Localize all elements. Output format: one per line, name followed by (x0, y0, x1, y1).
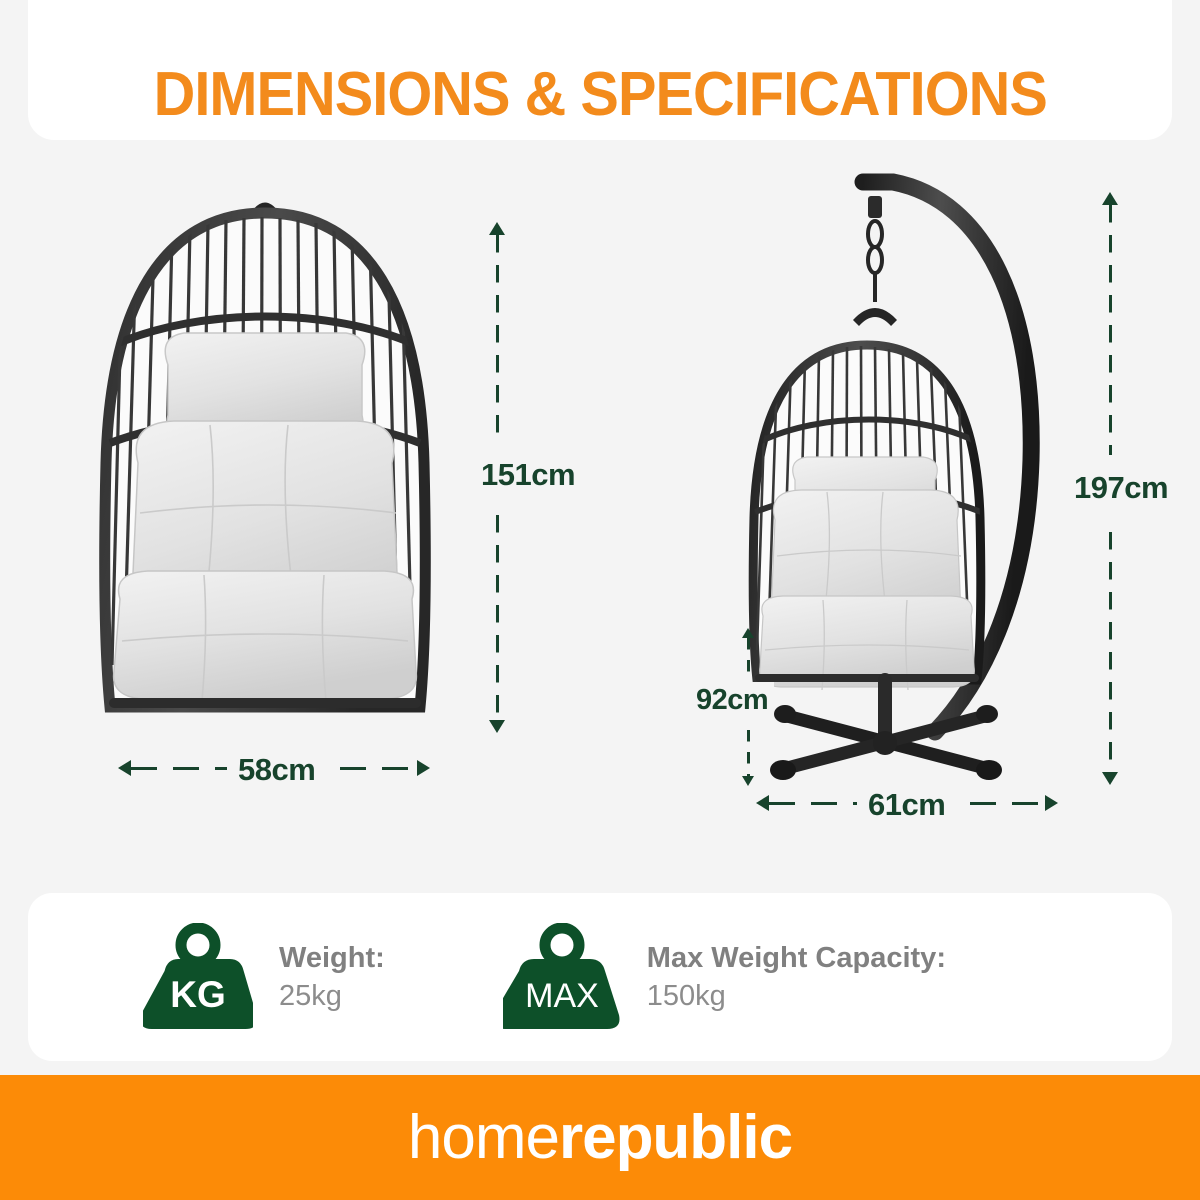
spec-text-weight: Weight: 25kg (279, 939, 385, 1016)
chair-hanger-hook (853, 308, 897, 326)
spec-item-weight: KG Weight: 25kg (143, 923, 385, 1031)
spec-label-max-capacity: Max Weight Capacity: (647, 939, 946, 977)
seat-cushion (114, 571, 417, 701)
max-icon-text: MAX (525, 977, 599, 1015)
weight-icon-text: KG (170, 974, 226, 1015)
egg-chair-front-svg (80, 195, 450, 755)
spec-text-max-capacity: Max Weight Capacity: 150kg (647, 939, 946, 1016)
dimension-label-151cm: 151cm (475, 455, 581, 495)
product-stage: 151cm 58cm (0, 150, 1200, 890)
dimension-label-197cm: 197cm (1068, 468, 1174, 508)
spec-value-weight: 25kg (279, 977, 385, 1015)
dimension-label-92cm: 92cm (690, 682, 774, 719)
page-title: DIMENSIONS & SPECIFICATIONS (153, 59, 1046, 130)
infographic-page: DIMENSIONS & SPECIFICATIONS (0, 0, 1200, 1200)
brand-logo: homerepublic (408, 1102, 792, 1173)
weight-kg-icon: KG (143, 923, 253, 1031)
spec-item-max-capacity: MAX Max Weight Capacity: 150kg (503, 923, 946, 1031)
weight-max-icon: MAX (503, 923, 621, 1031)
footer-brand-bar: homerepublic (0, 1075, 1200, 1200)
suspension-chain (868, 196, 882, 302)
header-card: DIMENSIONS & SPECIFICATIONS (28, 0, 1172, 140)
spec-value-max-capacity: 150kg (647, 977, 946, 1015)
brand-logo-light: home (408, 1103, 559, 1172)
dimension-label-61cm: 61cm (862, 785, 951, 825)
product-image-left (80, 195, 450, 755)
specifications-card: KG Weight: 25kg MAX Max Weight Capacity:… (28, 893, 1172, 1061)
spec-label-weight: Weight: (279, 939, 385, 977)
product-image-right (735, 160, 1075, 820)
dimension-label-58cm: 58cm (232, 750, 321, 790)
egg-chair-stand-svg (735, 160, 1075, 820)
brand-logo-bold: republic (559, 1103, 792, 1172)
